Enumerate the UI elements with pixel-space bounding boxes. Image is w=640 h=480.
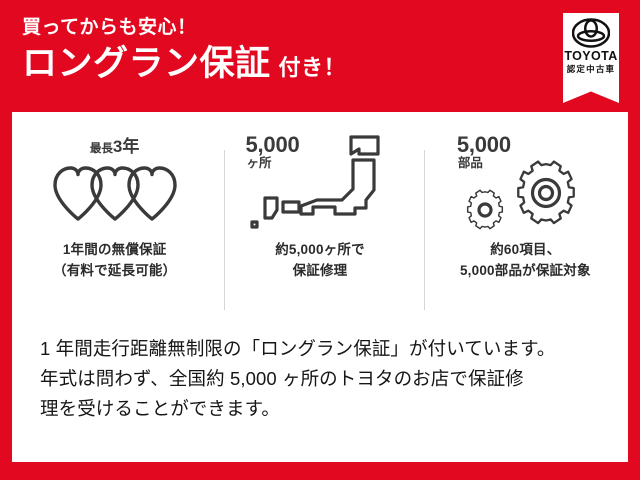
feature-covered-parts: 5,000 部品 約60項目、 5,000部品が保証対象	[423, 132, 628, 322]
feature-1-label-number: 3年	[113, 137, 139, 156]
badge-subtitle-label: 認定中古車	[563, 65, 619, 74]
header-headline-row: ロングラン保証 付き！	[22, 46, 452, 83]
feature-1-caption: 1年間の無償保証 （有料で延長可能）	[53, 240, 176, 282]
feature-1-icon-label: 最長3年	[32, 138, 197, 156]
feature-1-caption-line2: （有料で延長可能）	[53, 261, 176, 282]
description-line-3: 理を受けることができます。	[40, 394, 610, 424]
description-paragraph: 1 年間走行距離無制限の「ロングラン保証」が付いています。 年式は問わず、全国約…	[40, 334, 610, 424]
feature-1-icon-area: 最長3年	[32, 132, 197, 237]
toyota-emblem-icon	[572, 18, 610, 48]
feature-3-icon-number: 5,000	[457, 134, 511, 156]
description-line-1: 1 年間走行距離無制限の「ロングラン保証」が付いています。	[40, 334, 610, 364]
feature-service-locations: 5,000 ヶ所 約5,000ヶ所で 保証修理	[217, 132, 422, 322]
feature-3-icon-unit: 部品	[458, 157, 483, 170]
promo-banner: 買ってからも安心！ ロングラン保証 付き！ TOYOTA 認定中古車	[0, 0, 640, 480]
feature-3-caption-line2: 5,000部品が保証対象	[460, 261, 591, 282]
header-headline-suffix: 付き！	[279, 50, 347, 82]
toyota-certified-used-car-badge: TOYOTA 認定中古車	[563, 13, 619, 103]
three-hearts-icon	[52, 162, 178, 224]
header-headline-main: ロングラン保証	[22, 46, 271, 83]
feature-1-caption-line1: 1年間の無償保証	[53, 240, 176, 261]
feature-columns: 最長3年 1年間の無償保証 （有料で延長可能）	[12, 132, 628, 322]
content-card: 最長3年 1年間の無償保証 （有料で延長可能）	[12, 112, 628, 462]
description-line-2: 年式は問わず、全国約 5,000 ヶ所のトヨタのお店で保証修	[40, 364, 610, 394]
header-text-group: 買ってからも安心！ ロングラン保証 付き！	[22, 18, 452, 83]
feature-1-label-prefix: 最長	[90, 143, 113, 155]
feature-3-caption: 約60項目、 5,000部品が保証対象	[460, 240, 591, 282]
feature-2-caption-line1: 約5,000ヶ所で	[275, 240, 365, 261]
feature-3-caption-line1: 約60項目、	[460, 240, 591, 261]
header-band: 買ってからも安心！ ロングラン保証 付き！ TOYOTA 認定中古車	[0, 0, 640, 112]
feature-2-icon-number: 5,000	[245, 134, 299, 156]
feature-2-icon-unit: ヶ所	[246, 157, 271, 170]
feature-2-caption-line2: 保証修理	[275, 261, 365, 282]
header-kicker: 買ってからも安心！	[22, 18, 452, 39]
feature-warranty-term: 最長3年 1年間の無償保証 （有料で延長可能）	[12, 132, 217, 322]
feature-2-icon-area: 5,000 ヶ所	[237, 132, 402, 237]
badge-brand-label: TOYOTA	[563, 50, 619, 63]
feature-2-caption: 約5,000ヶ所で 保証修理	[275, 240, 365, 282]
feature-3-icon-area: 5,000 部品	[443, 132, 608, 237]
